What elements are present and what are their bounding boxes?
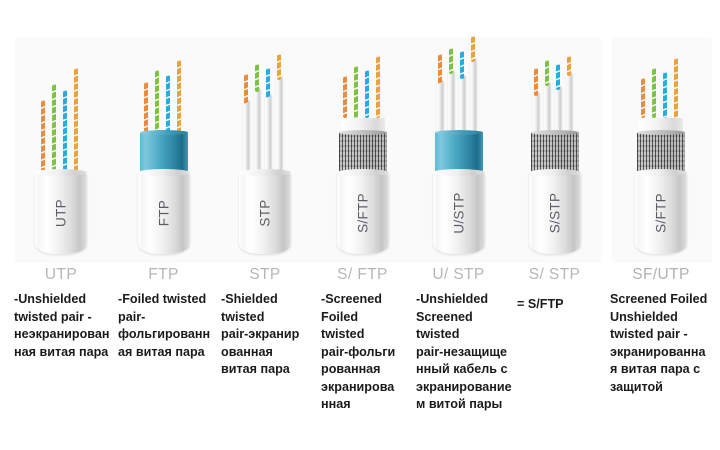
desc-line: ная витая пара bbox=[14, 344, 106, 362]
desc-line: экранирова bbox=[321, 379, 404, 397]
desc-line: неэкранирован bbox=[14, 326, 106, 344]
foil-shield-u-stp bbox=[435, 132, 483, 172]
wire-orange bbox=[343, 76, 347, 118]
diagram-canvas: UTP UTP -Unshielded twisted pair - неэкр… bbox=[0, 0, 720, 450]
desc-line: м витой пары bbox=[416, 396, 501, 414]
wire-green bbox=[449, 48, 453, 74]
desc-line: нная bbox=[321, 396, 404, 414]
shielded-pair-tube bbox=[265, 94, 272, 172]
cable-columns: UTP UTP -Unshielded twisted pair - неэкр… bbox=[0, 0, 720, 450]
desc-line: -Shielded bbox=[221, 291, 309, 309]
cable-jacket-ftp: FTP bbox=[138, 172, 190, 254]
desc-line: twisted bbox=[221, 309, 309, 327]
desc-line: защитой bbox=[610, 379, 714, 397]
wire-brown bbox=[177, 60, 181, 132]
wire-orange bbox=[438, 54, 442, 84]
braid-shield-sf-utp bbox=[637, 132, 685, 172]
desc-line: twisted bbox=[416, 326, 501, 344]
desc-line: pair-экранир bbox=[221, 326, 309, 344]
wire-brown bbox=[567, 56, 571, 76]
cable-column-s-stp: S/STP S/ STP = S/FTP bbox=[507, 0, 602, 314]
cable-jacket-label: U/STP bbox=[451, 192, 466, 233]
desc-line: Screened Foiled bbox=[610, 291, 714, 309]
wire-green bbox=[354, 66, 358, 118]
description-utp: -Unshielded twisted pair - неэкранирован… bbox=[10, 287, 112, 361]
wire-bundle-ftp bbox=[136, 60, 192, 132]
shielded-pair-tube bbox=[437, 80, 444, 132]
wire-bundle-s-stp bbox=[527, 56, 583, 132]
wire-bundle-s-ftp bbox=[335, 56, 391, 118]
cable-column-u-stp: U/STP U/ STP -Unshielded Screened twiste… bbox=[410, 0, 507, 414]
cable-illustration-s-stp: S/STP bbox=[507, 38, 602, 263]
desc-line: Unshielded bbox=[610, 309, 714, 327]
desc-line: = S/FTP bbox=[517, 296, 596, 314]
cable-column-s-ftp: S/FTP S/ FTP -Screened Foiled twisted pa… bbox=[315, 0, 410, 414]
shielded-pair-tube bbox=[566, 72, 573, 132]
desc-line: pair-фольги bbox=[321, 344, 404, 362]
cable-illustration-u-stp: U/STP bbox=[410, 38, 507, 263]
desc-line: twisted pair - bbox=[610, 326, 714, 344]
shielded-pair-tube bbox=[459, 75, 466, 132]
description-ftp: -Foiled twisted pair- фольгированн ая ви… bbox=[112, 287, 215, 361]
column-header-ftp: FTP bbox=[112, 263, 215, 287]
cable-jacket-label: FTP bbox=[156, 200, 171, 226]
wire-brown bbox=[277, 54, 281, 80]
wire-orange bbox=[41, 100, 45, 172]
wire-blue bbox=[166, 75, 170, 132]
braid-shield-s-ftp bbox=[339, 132, 387, 172]
foil-shield-ftp bbox=[140, 132, 188, 172]
column-header-s-ftp: S/ FTP bbox=[315, 263, 410, 287]
column-header-u-stp: U/ STP bbox=[410, 263, 507, 287]
cable-jacket-u-stp: U/STP bbox=[433, 172, 485, 254]
wire-green bbox=[255, 64, 259, 92]
wire-blue bbox=[556, 64, 560, 90]
cable-jacket-sf-utp: S/FTP bbox=[635, 172, 687, 254]
desc-line: -Screened bbox=[321, 291, 404, 309]
cable-jacket-label: STP bbox=[258, 199, 273, 226]
wire-orange bbox=[244, 74, 248, 104]
wire-orange bbox=[144, 82, 148, 132]
cable-illustration-ftp: FTP bbox=[112, 38, 215, 263]
cable-illustration-sf-utp: S/FTP bbox=[602, 38, 720, 263]
wire-brown bbox=[471, 36, 475, 62]
wire-bundle-utp bbox=[33, 62, 89, 172]
shielded-pair-tube bbox=[276, 76, 283, 172]
wire-green bbox=[155, 70, 159, 132]
desc-line: витая пара bbox=[221, 361, 309, 379]
cable-jacket-label: S/STP bbox=[547, 193, 562, 234]
wire-brown bbox=[376, 56, 380, 118]
description-s-stp: = S/FTP bbox=[507, 287, 602, 314]
desc-line: pair-незащище bbox=[416, 344, 501, 362]
wire-blue bbox=[63, 90, 67, 172]
cable-column-sf-utp: S/FTP SF/UTP Screened Foiled Unshielded … bbox=[602, 0, 720, 396]
cable-column-ftp: FTP FTP -Foiled twisted pair- фольгирова… bbox=[112, 0, 215, 361]
cable-jacket-stp: STP bbox=[239, 172, 291, 254]
shielded-pair-tube bbox=[555, 86, 562, 132]
cable-illustration-s-ftp: S/FTP bbox=[315, 38, 410, 263]
cable-jacket-s-ftp: S/FTP bbox=[337, 172, 389, 254]
cable-column-stp: STP STP -Shielded twisted pair-экранир о… bbox=[215, 0, 315, 379]
wire-bundle-stp bbox=[237, 62, 293, 172]
column-header-stp: STP bbox=[215, 263, 315, 287]
wire-blue bbox=[266, 68, 270, 98]
wire-bundle-sf-utp bbox=[633, 58, 689, 118]
desc-line: -Unshielded bbox=[14, 291, 106, 309]
desc-line: -Foiled twisted bbox=[118, 291, 209, 309]
desc-line: twisted pair - bbox=[14, 309, 106, 327]
shielded-pair-tube bbox=[448, 70, 455, 132]
braid-shield-s-stp bbox=[531, 132, 579, 172]
wire-green bbox=[545, 60, 549, 86]
cable-illustration-stp: STP bbox=[215, 38, 315, 263]
desc-line: нный кабель с bbox=[416, 361, 501, 379]
cable-jacket-label: S/FTP bbox=[355, 193, 370, 233]
desc-line: ая витая пара bbox=[118, 344, 209, 362]
wire-blue bbox=[460, 51, 464, 79]
wire-orange bbox=[534, 68, 538, 96]
shielded-pair-tube bbox=[544, 82, 551, 132]
shielded-pair-tube bbox=[533, 92, 540, 132]
wire-green bbox=[52, 84, 56, 172]
desc-line: Screened bbox=[416, 309, 501, 327]
desc-line: pair- bbox=[118, 309, 209, 327]
cable-illustration-utp: UTP bbox=[10, 38, 112, 263]
description-s-ftp: -Screened Foiled twisted pair-фольги ров… bbox=[315, 287, 410, 414]
wire-orange bbox=[641, 78, 645, 118]
description-sf-utp: Screened Foiled Unshielded twisted pair … bbox=[602, 287, 720, 396]
shielded-pair-tube bbox=[254, 88, 261, 172]
cable-jacket-s-stp: S/STP bbox=[529, 172, 581, 254]
desc-line: Foiled bbox=[321, 309, 404, 327]
desc-line: фольгированн bbox=[118, 326, 209, 344]
wire-blue bbox=[365, 70, 369, 118]
wire-blue bbox=[663, 72, 667, 118]
cable-jacket-label: S/FTP bbox=[654, 193, 669, 233]
column-header-sf-utp: SF/UTP bbox=[602, 263, 720, 287]
column-header-s-stp: S/ STP bbox=[507, 263, 602, 287]
cable-column-utp: UTP UTP -Unshielded twisted pair - неэкр… bbox=[0, 0, 112, 361]
desc-line: я витая пара с bbox=[610, 361, 714, 379]
column-header-utp: UTP bbox=[10, 263, 112, 287]
desc-line: ованная bbox=[221, 344, 309, 362]
wire-brown bbox=[74, 68, 78, 172]
desc-line: twisted bbox=[321, 326, 404, 344]
desc-line: рованная bbox=[321, 361, 404, 379]
description-u-stp: -Unshielded Screened twisted pair-незащи… bbox=[410, 287, 507, 414]
desc-line: экранирование bbox=[416, 379, 501, 397]
wire-brown bbox=[674, 58, 678, 118]
description-stp: -Shielded twisted pair-экранир ованная в… bbox=[215, 287, 315, 379]
cable-jacket-utp: UTP bbox=[35, 172, 87, 254]
desc-line: -Unshielded bbox=[416, 291, 501, 309]
cable-jacket-label: UTP bbox=[54, 199, 69, 227]
shielded-pair-tube bbox=[470, 58, 477, 132]
wire-bundle-u-stp bbox=[431, 44, 487, 132]
desc-line: экранированна bbox=[610, 344, 714, 362]
wire-green bbox=[652, 68, 656, 118]
shielded-pair-tube bbox=[243, 100, 250, 172]
